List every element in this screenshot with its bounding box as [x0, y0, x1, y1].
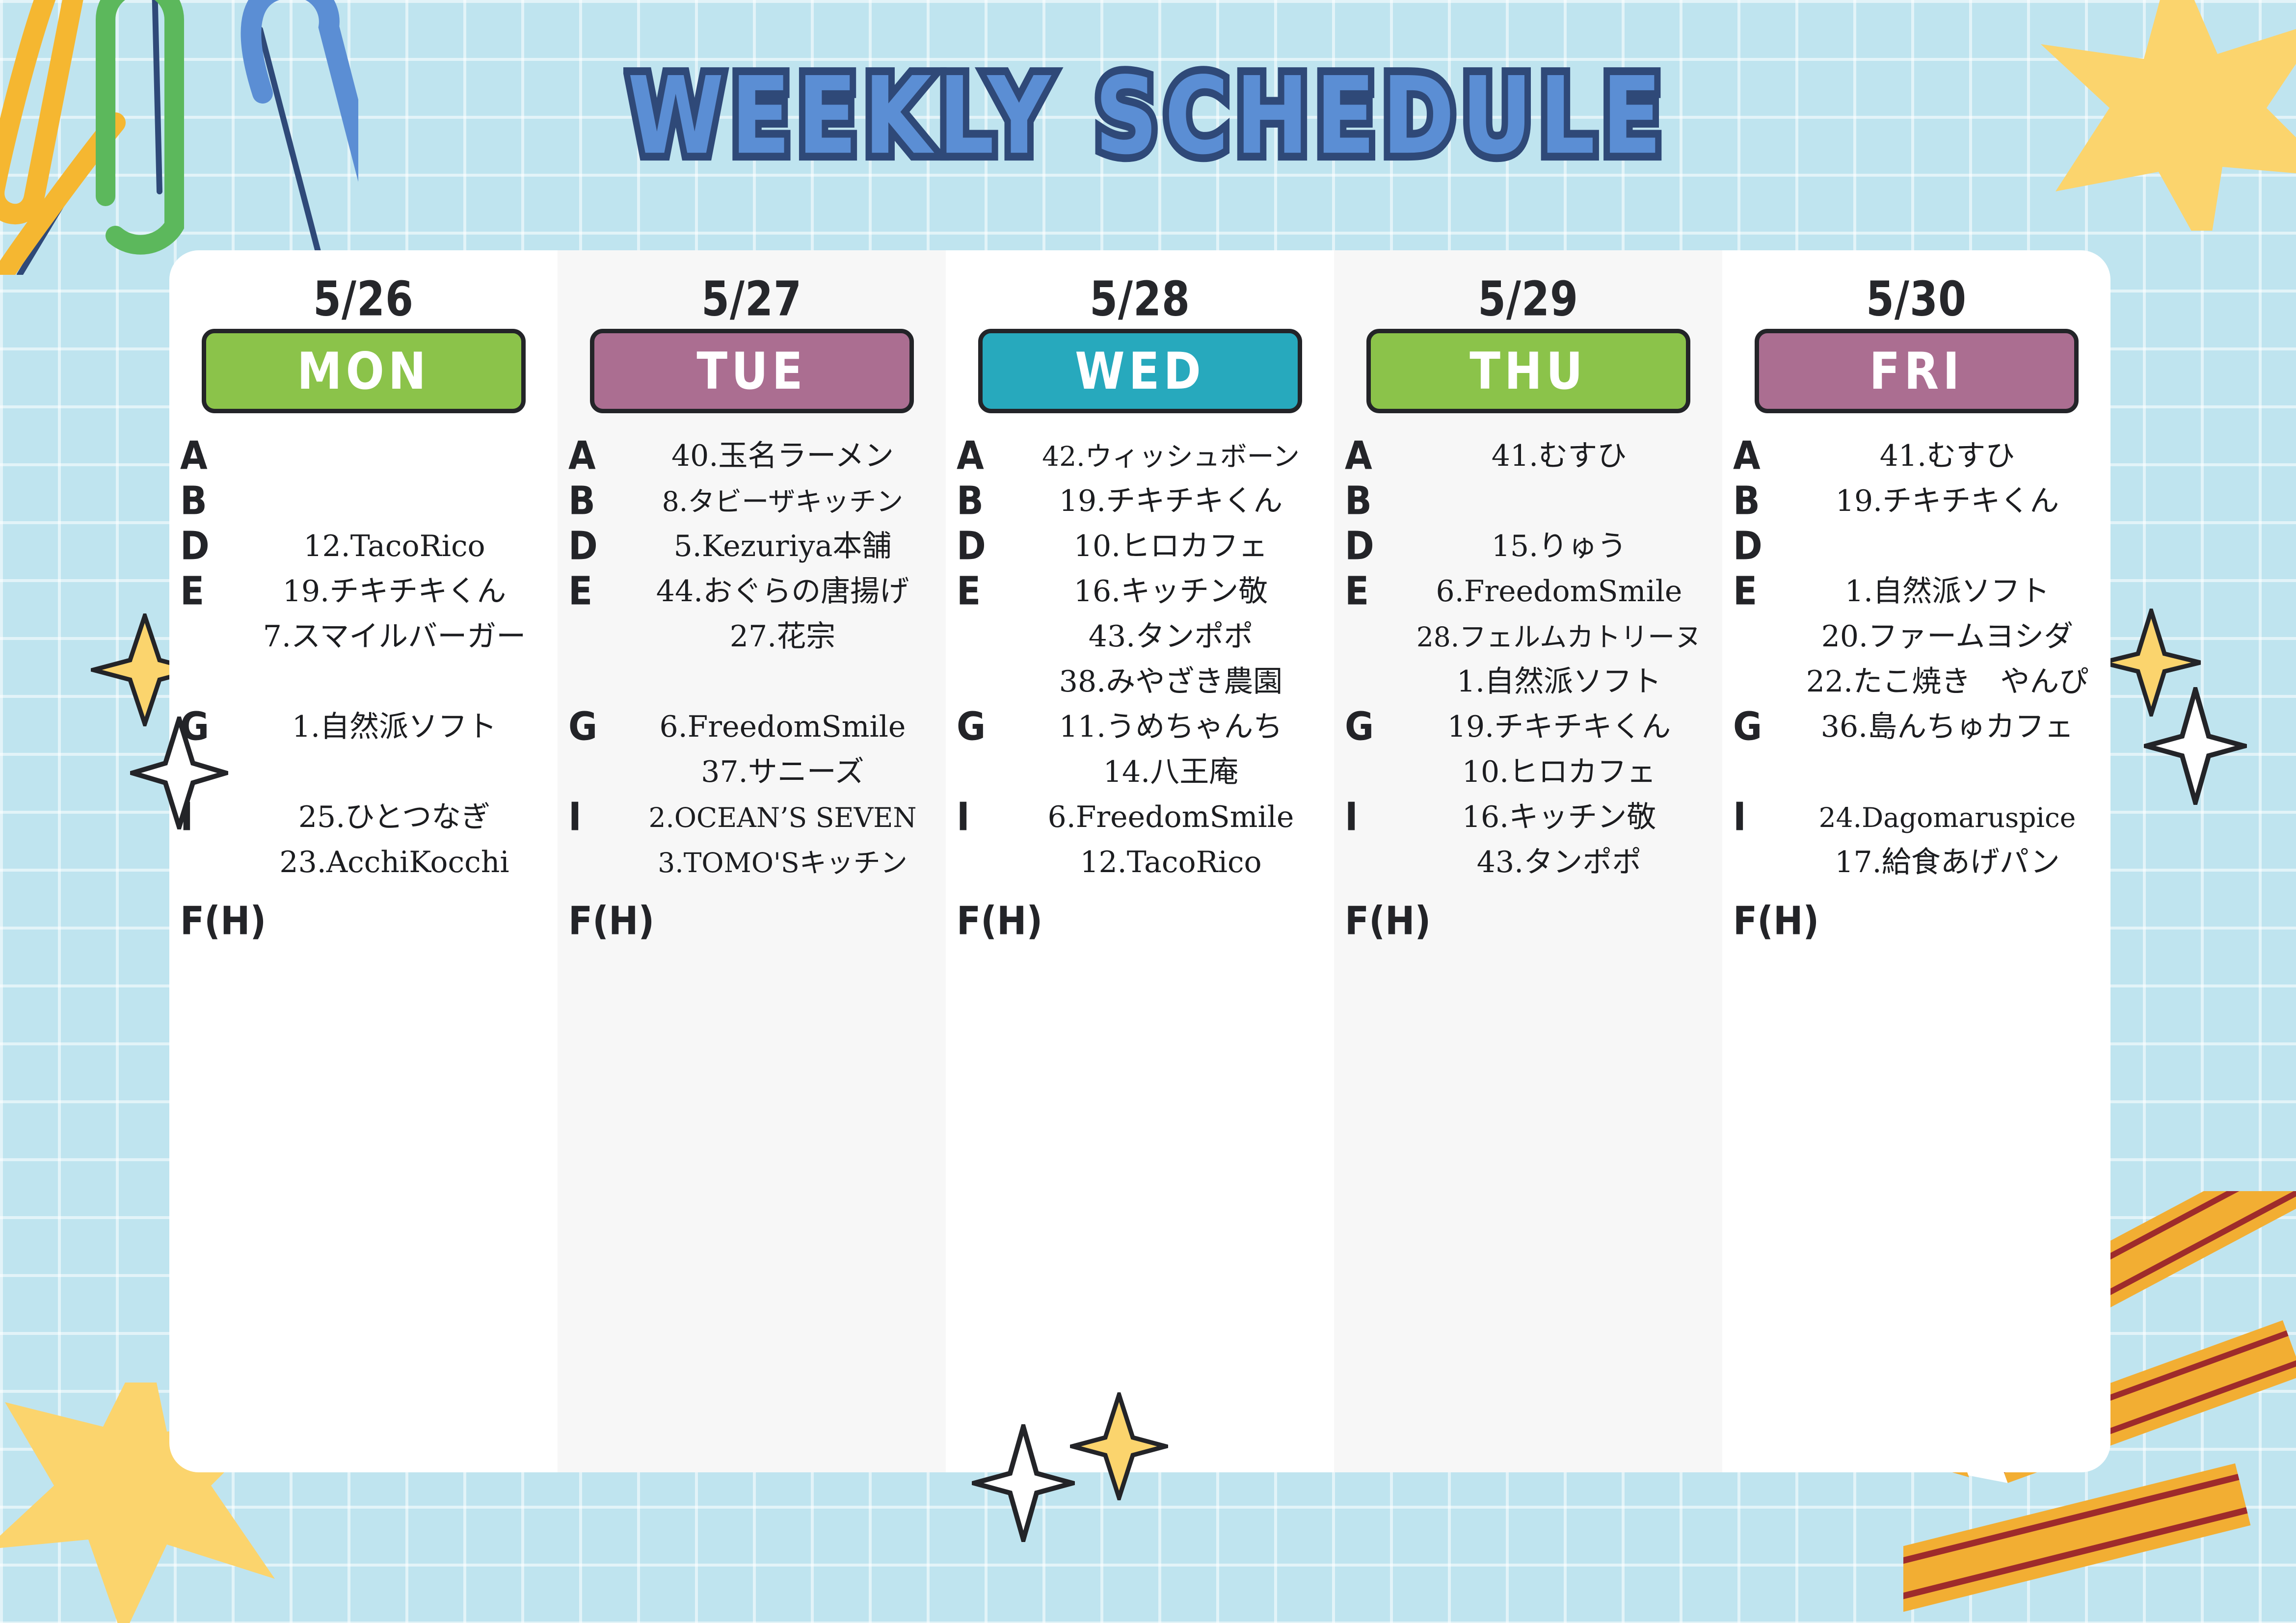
list-item: 44.おぐらの唐揚げ	[626, 569, 939, 614]
list-item: 2.OCEAN’S SEVEN	[626, 795, 939, 840]
slot-label-b: B	[1733, 479, 1791, 520]
row-spacer	[238, 660, 551, 705]
entries-wed-a: 42.ウィッシュボーン	[1015, 434, 1327, 479]
row-tue-fh: F(H)	[558, 898, 946, 939]
slot-label-b: B	[957, 479, 1015, 520]
entries-thu-i: 16.キッチン敬 43.タンポポ	[1403, 795, 1715, 885]
row-thu-b: B	[1334, 479, 1722, 524]
entries-thu-a: 41.むすひ	[1403, 434, 1715, 479]
row-wed-d: D 10.ヒロカフェ	[946, 524, 1334, 569]
day-label-tue: TUE	[696, 342, 806, 400]
page-title-container: WEEKLY SCHEDULE	[0, 54, 2296, 156]
entries-wed-g: 11.うめちゃんち 14.八王庵	[1015, 705, 1327, 795]
row-wed-fh: F(H)	[946, 898, 1334, 939]
entries-fri-g: 36.島んちゅカフェ	[1791, 705, 2104, 795]
row-thu-g: G 19.チキチキくん 10.ヒロカフェ	[1334, 705, 1722, 795]
row-fri-i: I 24.Dagomaruspice 17.給食あげパン	[1722, 795, 2110, 885]
slot-label-b: B	[568, 479, 626, 520]
weekly-schedule-card: 5/26 MON A B D 12.TacoRico E	[169, 250, 2110, 1472]
list-item: 16.キッチン敬	[1015, 569, 1327, 614]
entries-tue-g: 6.FreedomSmile 37.サニーズ	[626, 705, 939, 795]
entries-thu-d: 15.りゅう	[1403, 524, 1715, 569]
list-item: 20.ファームヨシダ	[1791, 614, 2104, 660]
row-mon-g: G 1.自然派ソフト	[169, 705, 558, 795]
row-mon-e: E 19.チキチキくん 7.スマイルバーガー	[169, 569, 558, 705]
list-item: 1.自然派ソフト	[1791, 569, 2104, 614]
list-item: 5.Kezuriya本舗	[626, 524, 939, 569]
list-item: 14.八王庵	[1015, 750, 1327, 795]
entries-fri-a: 41.むすひ	[1791, 434, 2104, 479]
slot-label-e: E	[1733, 569, 1791, 611]
entries-tue-e: 44.おぐらの唐揚げ 27.花宗	[626, 569, 939, 705]
slot-label-b: B	[180, 479, 238, 520]
list-item: 28.フェルムカトリーヌ	[1403, 614, 1715, 660]
list-item: 3.TOMO'Sキッチン	[626, 840, 939, 885]
row-tue-e: E 44.おぐらの唐揚げ 27.花宗	[558, 569, 946, 705]
date-label-tue: 5/27	[558, 272, 946, 327]
row-fri-e: E 1.自然派ソフト 20.ファームヨシダ 22.たこ焼き やんぴ	[1722, 569, 2110, 705]
row-fri-d: D	[1722, 524, 2110, 569]
day-column-thu: 5/29 THU A 41.むすひ B D 15.りゅう	[1334, 250, 1722, 1472]
list-item: 22.たこ焼き やんぴ	[1791, 660, 2104, 705]
row-mon-i: I 25.ひとつなぎ 23.AcchiKocchi	[169, 795, 558, 885]
date-label-wed: 5/28	[946, 272, 1334, 327]
rows-wed: A 42.ウィッシュボーン B 19.チキチキくん D 10.ヒロカフェ E	[946, 434, 1334, 939]
list-item: 27.花宗	[626, 614, 939, 660]
slot-label-i: I	[1733, 795, 1791, 836]
slot-label-d: D	[180, 524, 238, 565]
entries-tue-i: 2.OCEAN’S SEVEN 3.TOMO'Sキッチン	[626, 795, 939, 885]
slot-label-fh: F(H)	[957, 898, 1042, 943]
slot-label-g: G	[180, 705, 238, 746]
list-item: 36.島んちゅカフェ	[1791, 705, 2104, 750]
row-thu-e: E 6.FreedomSmile 28.フェルムカトリーヌ 1.自然派ソフト	[1334, 569, 1722, 705]
row-mon-a: A	[169, 434, 558, 479]
slot-label-d: D	[957, 524, 1015, 565]
row-fri-g: G 36.島んちゅカフェ	[1722, 705, 2110, 795]
list-item: 19.チキチキくん	[1403, 705, 1715, 750]
row-tue-d: D 5.Kezuriya本舗	[558, 524, 946, 569]
slot-label-b: B	[1345, 479, 1403, 520]
row-thu-a: A 41.むすひ	[1334, 434, 1722, 479]
slot-label-i: I	[957, 795, 1015, 836]
list-item: 1.自然派ソフト	[1403, 660, 1715, 705]
row-wed-a: A 42.ウィッシュボーン	[946, 434, 1334, 479]
day-column-tue: 5/27 TUE A 40.玉名ラーメン B 8.タビーザキッチン D	[558, 250, 946, 1472]
entries-tue-b: 8.タビーザキッチン	[626, 479, 939, 524]
row-thu-fh: F(H)	[1334, 898, 1722, 939]
row-wed-e: E 16.キッチン敬 43.タンポポ 38.みやざき農園	[946, 569, 1334, 705]
row-tue-g: G 6.FreedomSmile 37.サニーズ	[558, 705, 946, 795]
entries-fri-b: 19.チキチキくん	[1791, 479, 2104, 524]
row-spacer	[626, 660, 939, 705]
slot-label-e: E	[957, 569, 1015, 611]
list-item: 19.チキチキくん	[1015, 479, 1327, 524]
date-label-fri: 5/30	[1722, 272, 2110, 327]
entries-thu-g: 19.チキチキくん 10.ヒロカフェ	[1403, 705, 1715, 795]
slot-label-e: E	[568, 569, 626, 611]
day-chip-wed[interactable]: WED	[978, 329, 1302, 413]
row-thu-d: D 15.りゅう	[1334, 524, 1722, 569]
slot-label-fh: F(H)	[1345, 898, 1431, 943]
row-fri-fh: F(H)	[1722, 898, 2110, 939]
row-tue-b: B 8.タビーザキッチン	[558, 479, 946, 524]
row-spacer	[1791, 750, 2104, 795]
list-item: 6.FreedomSmile	[626, 705, 939, 750]
slot-label-a: A	[1733, 434, 1791, 475]
list-item: 10.ヒロカフェ	[1015, 524, 1327, 569]
list-item: 1.自然派ソフト	[238, 705, 551, 750]
list-item: 41.むすひ	[1403, 434, 1715, 479]
day-column-mon: 5/26 MON A B D 12.TacoRico E	[169, 250, 558, 1472]
slot-label-a: A	[568, 434, 626, 475]
entries-mon-d: 12.TacoRico	[238, 524, 551, 569]
list-item: 25.ひとつなぎ	[238, 795, 551, 840]
slot-label-d: D	[568, 524, 626, 565]
page-title: WEEKLY SCHEDULE	[628, 54, 1669, 178]
slot-label-g: G	[1733, 705, 1791, 746]
slot-label-fh: F(H)	[180, 898, 266, 943]
slot-label-i: I	[1345, 795, 1403, 836]
list-item: 7.スマイルバーガー	[238, 614, 551, 660]
list-item: 12.TacoRico	[238, 524, 551, 569]
entries-mon-g: 1.自然派ソフト	[238, 705, 551, 795]
list-item: 11.うめちゃんち	[1015, 705, 1327, 750]
entries-tue-a: 40.玉名ラーメン	[626, 434, 939, 479]
date-label-mon: 5/26	[169, 272, 558, 327]
entries-mon-i: 25.ひとつなぎ 23.AcchiKocchi	[238, 795, 551, 885]
slot-label-d: D	[1733, 524, 1791, 565]
slot-label-i: I	[568, 795, 626, 836]
row-wed-g: G 11.うめちゃんち 14.八王庵	[946, 705, 1334, 795]
day-label-fri: FRI	[1869, 342, 1964, 400]
entries-mon-e: 19.チキチキくん 7.スマイルバーガー	[238, 569, 551, 705]
list-item: 43.タンポポ	[1403, 840, 1715, 885]
rows-tue: A 40.玉名ラーメン B 8.タビーザキッチン D 5.Kezuriya本舗 …	[558, 434, 946, 939]
list-item: 23.AcchiKocchi	[238, 840, 551, 885]
entries-wed-i: 6.FreedomSmile 12.TacoRico	[1015, 795, 1327, 885]
entries-thu-e: 6.FreedomSmile 28.フェルムカトリーヌ 1.自然派ソフト	[1403, 569, 1715, 705]
slot-label-i: I	[180, 795, 238, 836]
slot-label-fh: F(H)	[1733, 898, 1819, 943]
day-label-mon: MON	[297, 342, 430, 400]
slot-label-g: G	[568, 705, 626, 746]
day-chip-thu[interactable]: THU	[1366, 329, 1690, 413]
row-wed-i: I 6.FreedomSmile 12.TacoRico	[946, 795, 1334, 885]
list-item: 6.FreedomSmile	[1015, 795, 1327, 840]
slot-label-a: A	[957, 434, 1015, 475]
slot-label-g: G	[1345, 705, 1403, 746]
list-item: 42.ウィッシュボーン	[1015, 434, 1327, 479]
slot-label-e: E	[180, 569, 238, 611]
row-spacer	[238, 750, 551, 795]
rows-thu: A 41.むすひ B D 15.りゅう E 6.FreedomSmile 28.	[1334, 434, 1722, 939]
list-item: 40.玉名ラーメン	[626, 434, 939, 479]
list-item: 12.TacoRico	[1015, 840, 1327, 885]
date-label-thu: 5/29	[1334, 272, 1722, 327]
row-tue-a: A 40.玉名ラーメン	[558, 434, 946, 479]
rows-mon: A B D 12.TacoRico E 19.チキチキくん 7.スマイルバーガー	[169, 434, 558, 939]
row-mon-b: B	[169, 479, 558, 524]
list-item: 8.タビーザキッチン	[626, 479, 939, 524]
slot-label-g: G	[957, 705, 1015, 746]
entries-fri-e: 1.自然派ソフト 20.ファームヨシダ 22.たこ焼き やんぴ	[1791, 569, 2104, 705]
day-label-wed: WED	[1075, 342, 1205, 400]
day-label-thu: THU	[1469, 342, 1586, 400]
slot-label-d: D	[1345, 524, 1403, 565]
list-item: 16.キッチン敬	[1403, 795, 1715, 840]
row-mon-d: D 12.TacoRico	[169, 524, 558, 569]
slot-label-fh: F(H)	[568, 898, 654, 943]
row-fri-a: A 41.むすひ	[1722, 434, 2110, 479]
day-chip-fri[interactable]: FRI	[1755, 329, 2079, 413]
rows-fri: A 41.むすひ B 19.チキチキくん D E 1.自然派ソフト 20.ファー	[1722, 434, 2110, 939]
day-column-fri: 5/30 FRI A 41.むすひ B 19.チキチキくん D	[1722, 250, 2110, 1472]
row-fri-b: B 19.チキチキくん	[1722, 479, 2110, 524]
entries-wed-e: 16.キッチン敬 43.タンポポ 38.みやざき農園	[1015, 569, 1327, 705]
entries-fri-i: 24.Dagomaruspice 17.給食あげパン	[1791, 795, 2104, 885]
row-wed-b: B 19.チキチキくん	[946, 479, 1334, 524]
list-item: 24.Dagomaruspice	[1791, 795, 2104, 840]
row-thu-i: I 16.キッチン敬 43.タンポポ	[1334, 795, 1722, 885]
list-item: 6.FreedomSmile	[1403, 569, 1715, 614]
entries-wed-b: 19.チキチキくん	[1015, 479, 1327, 524]
list-item: 10.ヒロカフェ	[1403, 750, 1715, 795]
entries-wed-d: 10.ヒロカフェ	[1015, 524, 1327, 569]
list-item: 17.給食あげパン	[1791, 840, 2104, 885]
list-item: 38.みやざき農園	[1015, 660, 1327, 705]
slot-label-e: E	[1345, 569, 1403, 611]
list-item: 43.タンポポ	[1015, 614, 1327, 660]
day-chip-tue[interactable]: TUE	[590, 329, 914, 413]
slot-label-a: A	[1345, 434, 1403, 475]
day-chip-mon[interactable]: MON	[202, 329, 526, 413]
day-column-wed: 5/28 WED A 42.ウィッシュボーン B 19.チキチキくん D	[946, 250, 1334, 1472]
list-item: 15.りゅう	[1403, 524, 1715, 569]
list-item: 19.チキチキくん	[238, 569, 551, 614]
list-item: 37.サニーズ	[626, 750, 939, 795]
list-item: 19.チキチキくん	[1791, 479, 2104, 524]
list-item: 41.むすひ	[1791, 434, 2104, 479]
row-tue-i: I 2.OCEAN’S SEVEN 3.TOMO'Sキッチン	[558, 795, 946, 885]
entries-tue-d: 5.Kezuriya本舗	[626, 524, 939, 569]
row-mon-fh: F(H)	[169, 898, 558, 939]
slot-label-a: A	[180, 434, 238, 475]
